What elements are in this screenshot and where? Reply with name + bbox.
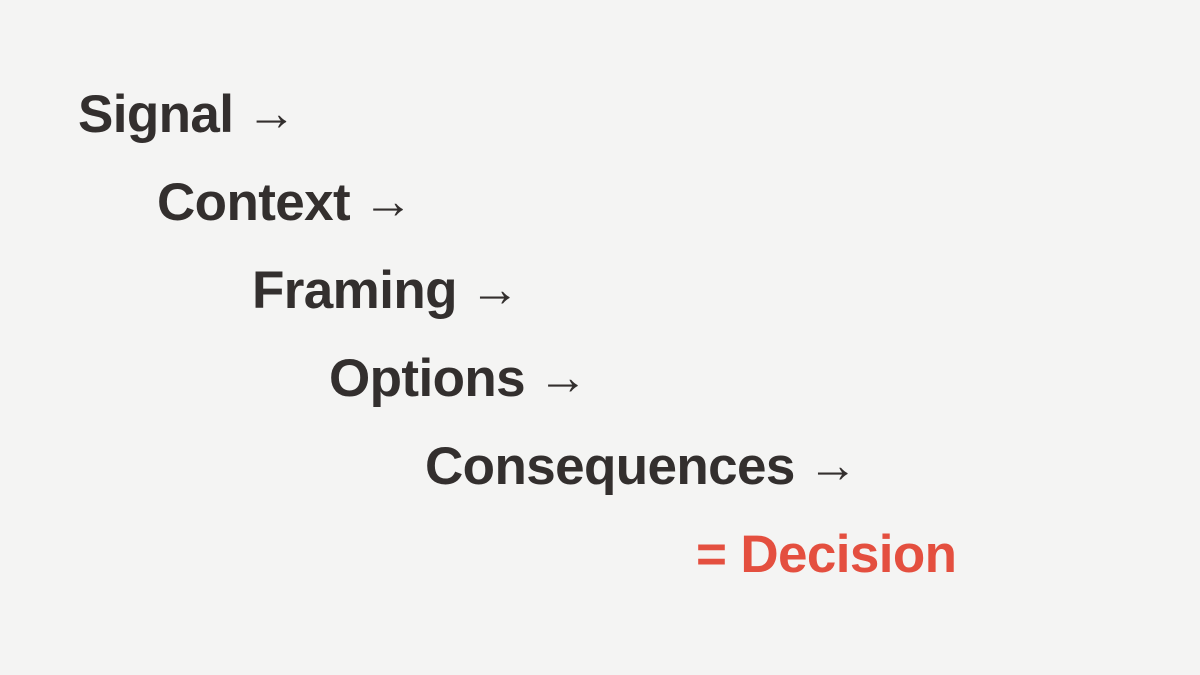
cascade-step-label: Options xyxy=(329,349,525,408)
cascade-step-context: Context→ xyxy=(157,176,412,229)
cascade-step-label: Framing xyxy=(252,261,457,320)
arrow-right-icon: → xyxy=(363,176,412,226)
arrow-right-icon: → xyxy=(808,440,857,490)
cascade-step-signal: Signal→ xyxy=(78,88,296,141)
cascade-step-label: Context xyxy=(157,173,350,232)
arrow-right-icon: → xyxy=(470,264,519,314)
cascade-step-label: Signal xyxy=(78,85,233,144)
arrow-right-icon: → xyxy=(246,88,295,138)
equals-icon: = xyxy=(696,528,726,581)
cascade-step-label: Consequences xyxy=(425,437,795,496)
cascade-result-decision: =Decision xyxy=(696,528,956,581)
cascade-step-consequences: Consequences→ xyxy=(425,440,857,493)
cascade-result-label: Decision xyxy=(740,525,956,584)
slide-canvas: Signal→ Context→ Framing→ Options→ Conse… xyxy=(0,0,1200,675)
cascade-step-options: Options→ xyxy=(329,352,587,405)
cascade-step-framing: Framing→ xyxy=(252,264,519,317)
arrow-right-icon: → xyxy=(538,352,587,402)
decision-cascade: Signal→ Context→ Framing→ Options→ Conse… xyxy=(0,0,1200,675)
